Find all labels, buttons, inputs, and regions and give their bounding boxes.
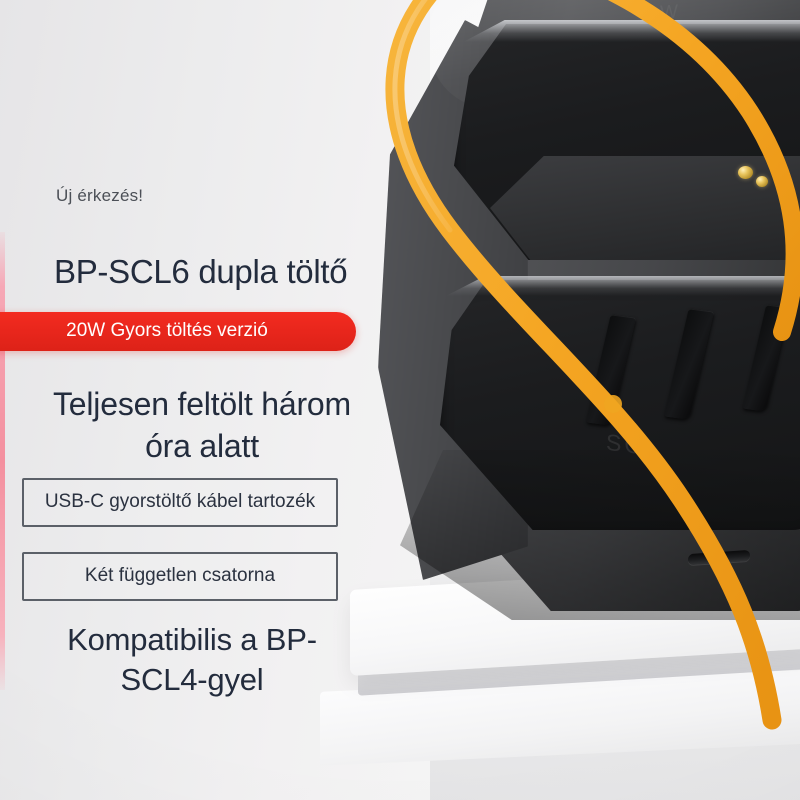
compatibility-text: Kompatibilis a BP-SCL4-gyel <box>42 620 342 701</box>
usb-c-cable <box>330 0 800 760</box>
marketing-copy: Új érkezés! BP-SCL6 dupla töltő 20W Gyor… <box>0 0 380 800</box>
headline-text: Teljesen feltölt három óra alatt <box>42 384 362 467</box>
status-badge: 20W Gyors töltés verzió <box>0 312 356 351</box>
product-image: W SCL <box>330 0 800 760</box>
kicker-text: Új érkezés! <box>56 186 143 206</box>
feature-box: USB-C gyorstöltő kábel tartozék <box>22 478 338 527</box>
product-poster: W SCL <box>0 0 800 800</box>
feature-box: Két független csatorna <box>22 552 338 601</box>
page-title: BP-SCL6 dupla töltő <box>54 253 347 291</box>
